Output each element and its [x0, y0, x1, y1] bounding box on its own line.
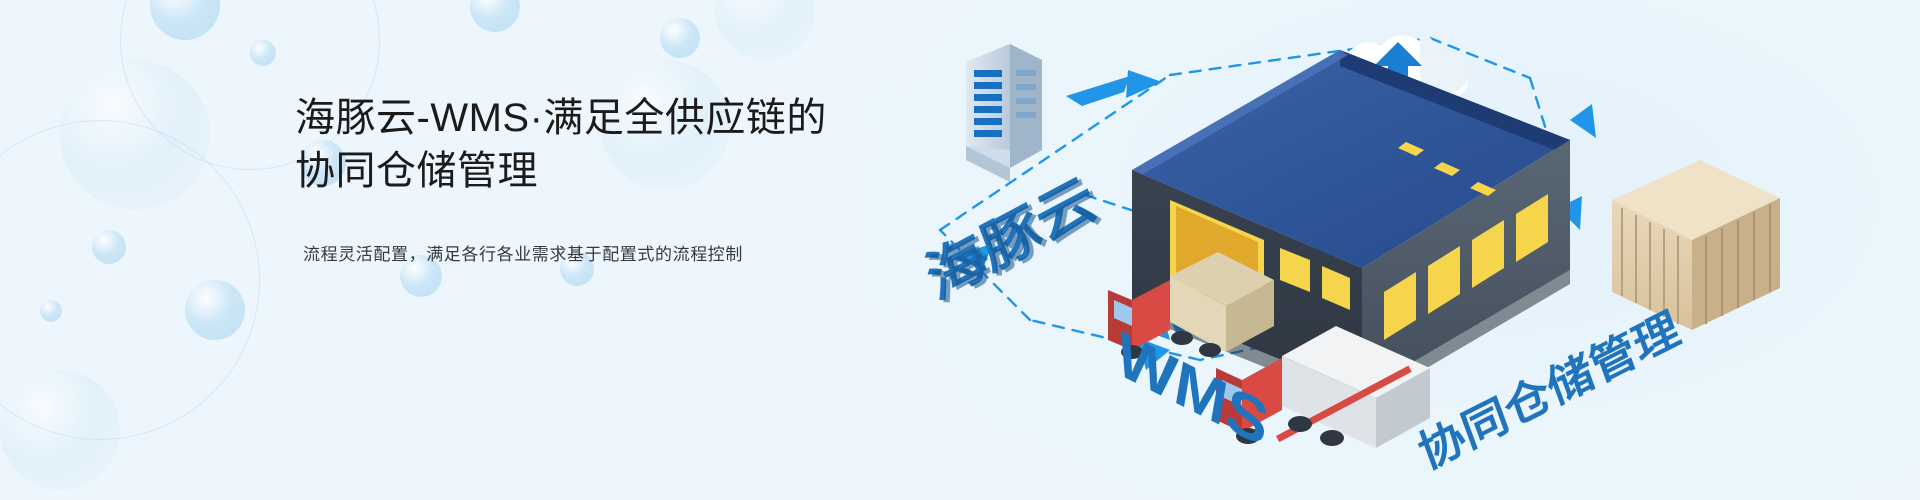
page-title: 海豚云-WMS·满足全供应链的 协同仓储管理 [295, 92, 935, 198]
label-brand-shadow: 海豚云 [923, 169, 1108, 314]
server-rack [966, 44, 1042, 182]
bubble [660, 18, 700, 58]
wms-hero-banner: 海豚云-WMS·满足全供应链的 协同仓储管理 流程灵活配置，满足各行各业需求基于… [0, 0, 1920, 500]
bubble [185, 280, 245, 340]
bubble [715, 0, 815, 60]
bubble [40, 300, 62, 322]
bubble [150, 0, 220, 40]
hero-subtitle: 流程灵活配置，满足各行各业需求基于配置式的流程控制 [303, 240, 935, 265]
bubble [250, 40, 276, 66]
bubble [470, 0, 520, 32]
shipping-container [1612, 160, 1780, 330]
bubble-ring [0, 120, 260, 440]
hero-illustration: 海豚云 海豚云 WMS 协同仓储管理 [870, 0, 1920, 500]
flow-arrow-large [1066, 70, 1162, 106]
bubble [60, 60, 210, 210]
bubble [92, 230, 126, 264]
illustration-label-brand: 海豚云 海豚云 [919, 165, 1109, 315]
bubble [0, 370, 120, 490]
hero-copy: 海豚云-WMS·满足全供应链的 协同仓储管理 流程灵活配置，满足各行各业需求基于… [295, 92, 935, 265]
